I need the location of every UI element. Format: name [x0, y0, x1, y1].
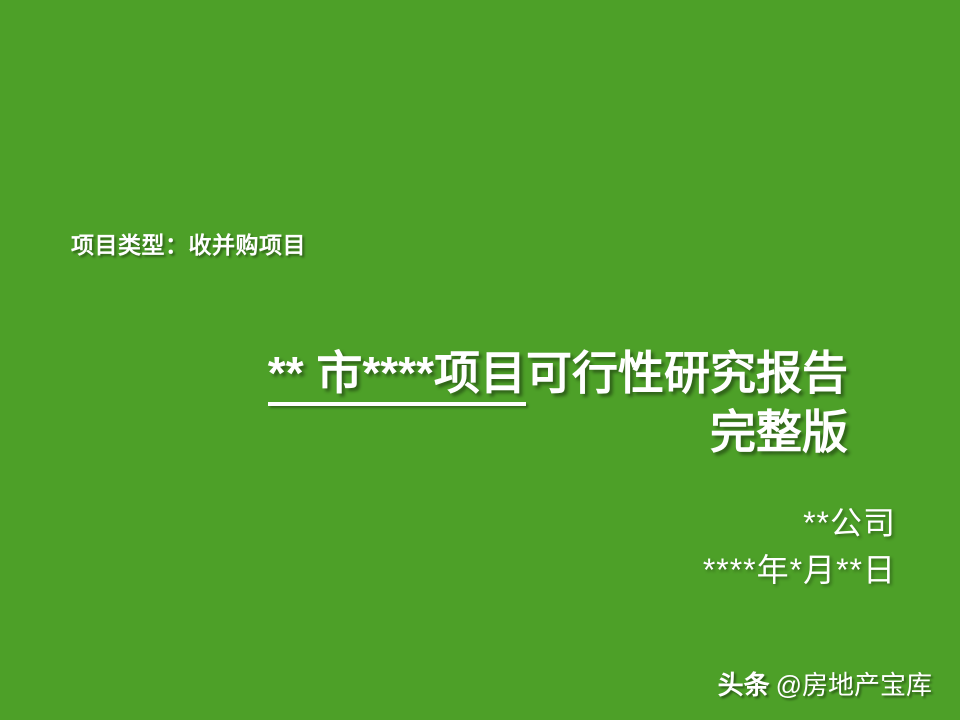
project-type-label: 项目类型：收并购项目: [71, 226, 306, 260]
presentation-slide: 项目类型：收并购项目 ** 市****项目可行性研究报告 完整版 **公司 **…: [0, 0, 960, 720]
company-name: **公司: [0, 500, 896, 547]
title-rest-segment: 可行性研究报告: [526, 347, 848, 399]
title-underlined-segment: ** 市****项目: [268, 344, 526, 403]
signature-block: **公司 ****年*月**日: [0, 500, 896, 594]
watermark-handle: @房地产宝库: [776, 670, 932, 700]
title-line-1: ** 市****项目可行性研究报告: [0, 344, 848, 403]
title-block: ** 市****项目可行性研究报告 完整版: [0, 344, 848, 462]
title-line-2: 完整版: [0, 403, 848, 462]
watermark-brand: 头条: [718, 670, 770, 700]
watermark: 头条@房地产宝库: [718, 665, 932, 702]
report-date: ****年*月**日: [0, 547, 896, 594]
